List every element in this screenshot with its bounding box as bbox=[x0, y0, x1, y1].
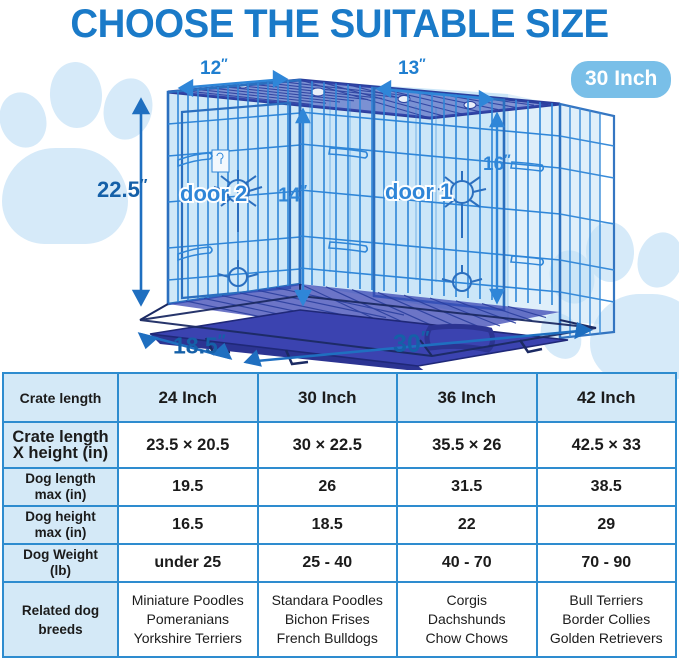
table-row: Crate length X height (in) 23.5 × 20.5 3… bbox=[3, 422, 676, 468]
cell-dog-height-42: 29 bbox=[537, 506, 677, 544]
table-header-row: Crate length 24 Inch 30 Inch 36 Inch 42 … bbox=[3, 373, 676, 422]
table-row: Related dog breeds Miniature Poodles Pom… bbox=[3, 582, 676, 657]
breed-item: Dachshunds bbox=[400, 610, 534, 629]
breed-item: Golden Retrievers bbox=[540, 629, 674, 648]
cell-crate-dim-42: 42.5 × 33 bbox=[537, 422, 677, 468]
table-header-30-inch: 30 Inch bbox=[258, 373, 398, 422]
table-row: Dog length max (in) 19.5 26 31.5 38.5 bbox=[3, 468, 676, 506]
row-label-crate-dimensions: Crate length X height (in) bbox=[3, 422, 118, 468]
breed-item: Border Collies bbox=[540, 610, 674, 629]
breed-item: French Bulldogs bbox=[261, 629, 395, 648]
crate-svg bbox=[0, 52, 679, 370]
breed-item: Chow Chows bbox=[400, 629, 534, 648]
cell-dog-length-24: 19.5 bbox=[118, 468, 258, 506]
row-label-line-2: max (in) bbox=[6, 525, 115, 541]
dimension-label-door-height: 16″ bbox=[483, 152, 511, 176]
cell-dog-weight-42: 70 - 90 bbox=[537, 544, 677, 582]
row-label-line-1: Dog Weight bbox=[6, 547, 115, 563]
row-label-line-2: max (in) bbox=[6, 487, 115, 503]
cell-dog-length-30: 26 bbox=[258, 468, 398, 506]
table-row: Dog Weight (lb) under 25 25 - 40 40 - 70… bbox=[3, 544, 676, 582]
row-label-line-1: Related dog bbox=[6, 601, 115, 620]
breed-item: Miniature Poodles bbox=[121, 591, 255, 610]
cell-dog-weight-36: 40 - 70 bbox=[397, 544, 537, 582]
breed-item: Bull Terriers bbox=[540, 591, 674, 610]
row-label-line-1: Dog length bbox=[6, 471, 115, 487]
row-label-line-2: (lb) bbox=[6, 563, 115, 579]
row-label-related-breeds: Related dog breeds bbox=[3, 582, 118, 657]
cell-breeds-30: Standara Poodles Bichon Frises French Bu… bbox=[258, 582, 398, 657]
cell-breeds-42: Bull Terriers Border Collies Golden Retr… bbox=[537, 582, 677, 657]
row-label-dog-length: Dog length max (in) bbox=[3, 468, 118, 506]
cell-dog-height-24: 16.5 bbox=[118, 506, 258, 544]
row-label-line-1: Dog height bbox=[6, 509, 115, 525]
cell-crate-dim-24: 23.5 × 20.5 bbox=[118, 422, 258, 468]
row-label-dog-weight: Dog Weight (lb) bbox=[3, 544, 118, 582]
cell-crate-dim-36: 35.5 × 26 bbox=[397, 422, 537, 468]
table-header-42-inch: 42 Inch bbox=[537, 373, 677, 422]
table-header-crate-length: Crate length bbox=[3, 373, 118, 422]
row-label-line-1: Crate length bbox=[6, 429, 115, 445]
breed-item: Bichon Frises bbox=[261, 610, 395, 629]
table-header-36-inch: 36 Inch bbox=[397, 373, 537, 422]
door-2-label: door 2 bbox=[180, 181, 247, 207]
cell-dog-length-36: 31.5 bbox=[397, 468, 537, 506]
cell-dog-height-36: 22 bbox=[397, 506, 537, 544]
page-title: CHOOSE THE SUITABLE SIZE bbox=[14, 0, 666, 50]
cell-dog-height-30: 18.5 bbox=[258, 506, 398, 544]
cell-breeds-36: Corgis Dachshunds Chow Chows bbox=[397, 582, 537, 657]
dimension-label-depth: 18.5″ bbox=[173, 331, 226, 359]
size-comparison-table: Crate length 24 Inch 30 Inch 36 Inch 42 … bbox=[2, 372, 677, 658]
dimension-label-height: 22.5″ bbox=[97, 177, 147, 203]
dimension-label-inner-depth: 14″ bbox=[278, 183, 307, 207]
cell-breeds-24: Miniature Poodles Pomeranians Yorkshire … bbox=[118, 582, 258, 657]
row-label-line-2: X height (in) bbox=[6, 445, 115, 461]
door-1-label: door 1 bbox=[385, 179, 452, 205]
breed-item: Standara Poodles bbox=[261, 591, 395, 610]
breed-item: Pomeranians bbox=[121, 610, 255, 629]
table-header-24-inch: 24 Inch bbox=[118, 373, 258, 422]
breed-item: Yorkshire Terriers bbox=[121, 629, 255, 648]
dimension-label-top-right: 13″ bbox=[398, 56, 426, 80]
product-diagram-area: 30 Inch bbox=[0, 52, 679, 370]
cell-dog-weight-30: 25 - 40 bbox=[258, 544, 398, 582]
dog-crate-illustration bbox=[0, 52, 679, 370]
cell-crate-dim-30: 30 × 22.5 bbox=[258, 422, 398, 468]
table-row: Dog height max (in) 16.5 18.5 22 29 bbox=[3, 506, 676, 544]
cell-dog-length-42: 38.5 bbox=[537, 468, 677, 506]
cell-dog-weight-24: under 25 bbox=[118, 544, 258, 582]
breed-item: Corgis bbox=[400, 591, 534, 610]
dimension-label-length: 30″ bbox=[393, 328, 429, 359]
row-label-dog-height: Dog height max (in) bbox=[3, 506, 118, 544]
dimension-label-top-left: 12″ bbox=[200, 56, 228, 80]
row-label-line-2: breeds bbox=[6, 620, 115, 639]
